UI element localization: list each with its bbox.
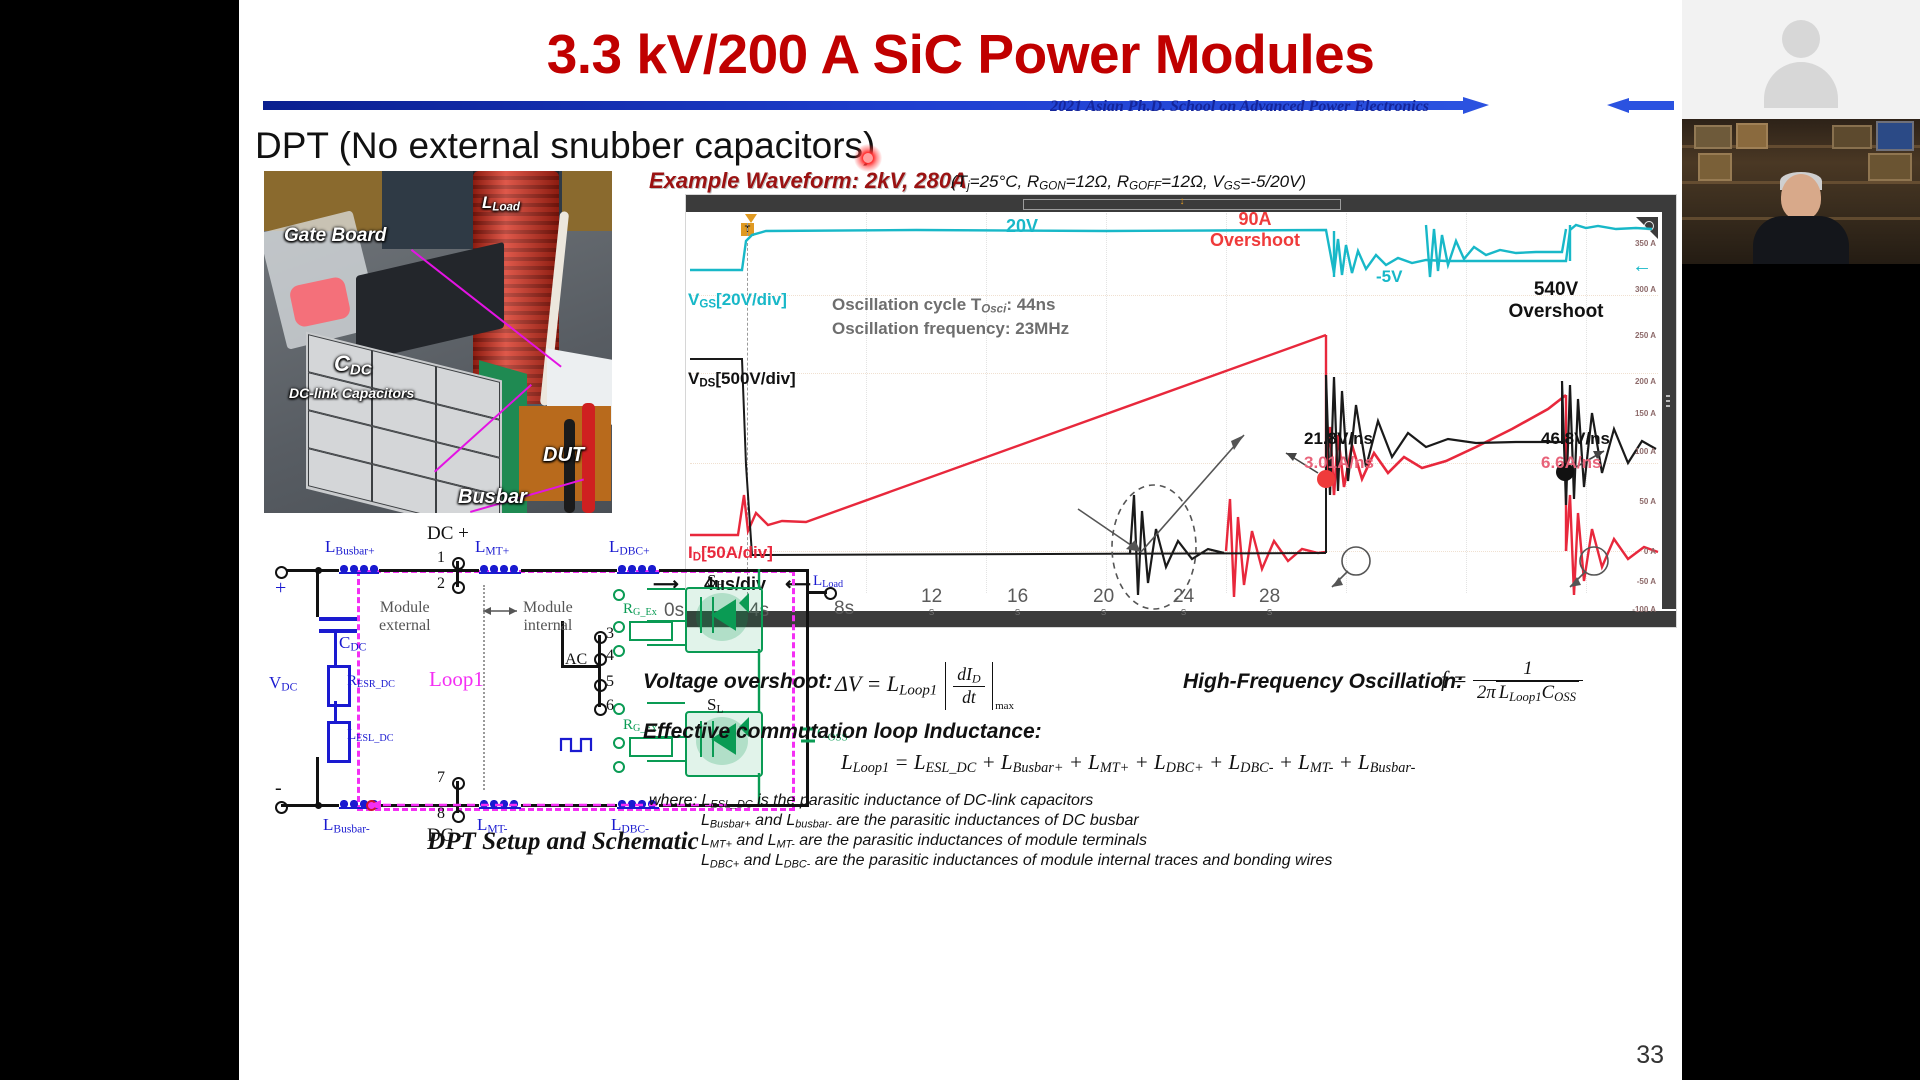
avatar <box>1759 18 1843 102</box>
scale-label-right: 350 A <box>1635 239 1656 248</box>
footnote-line: LMT+ and LMT- are the parasitic inductan… <box>701 832 1147 850</box>
participant-tile-avatar[interactable] <box>1682 0 1920 119</box>
label-pin-4: 4 <box>606 647 614 665</box>
x-tick-label: 20s <box>1093 586 1114 618</box>
dvdt-annotation-1: 21.8V/ns <box>1304 429 1373 449</box>
background-picture <box>1868 153 1912 181</box>
label-l-busbar-plus: LBusbar+ <box>325 537 375 558</box>
label-v-dc: VDC <box>269 673 297 694</box>
dvdt-annotation-2: 46.8V/ns <box>1541 429 1610 449</box>
label-r-esr-dc: RESR_DC <box>347 673 395 690</box>
header-subtitle: 2021 Asian Ph.D. School on Advanced Powe… <box>709 98 1429 116</box>
background-picture <box>1698 153 1732 181</box>
label-ac: AC <box>565 651 587 669</box>
vgs-axis-label: VGS[20V/div] <box>688 290 787 311</box>
participant-tile-video[interactable] <box>1682 119 1920 264</box>
hf-oscillation-label: High-Frequency Oscillation: <box>1183 670 1463 694</box>
didt-annotation-2: 6.6A/ns <box>1541 453 1601 473</box>
photo-label-dut: DUT <box>543 444 584 467</box>
section-title: DPT (No external snubber capacitors) <box>255 125 875 167</box>
scale-label-right: 50 A <box>1639 497 1656 506</box>
vgs-low-label: -5V <box>1376 267 1402 287</box>
label-pin-8: 8 <box>437 805 445 823</box>
x-tick-label: 24s <box>1173 586 1194 618</box>
left-letterbox-bar <box>0 0 239 1080</box>
label-l-dbc-plus: LDBC+ <box>609 537 650 558</box>
label-switch-low: SL <box>707 695 724 716</box>
label-terminal-minus: - <box>275 777 282 800</box>
label-pin-3: 3 <box>606 625 614 643</box>
background-picture <box>1736 123 1768 149</box>
label-pin-1: 1 <box>437 549 445 567</box>
label-pin-7: 7 <box>437 769 445 787</box>
vds-axis-label: VDS[500V/div] <box>688 369 796 390</box>
presenter-video <box>1753 174 1849 264</box>
current-overshoot-annotation: 90AOvershoot <box>1195 209 1315 251</box>
label-l-mt-plus: LMT+ <box>475 537 509 558</box>
footnote-line: LBusbar+ and Lbusbar- are the parasitic … <box>701 812 1139 830</box>
scope-caption-params: (Tj=25°C, RGON=12Ω, RGOFF=12Ω, VGS=-5/20… <box>951 172 1306 193</box>
oscillation-cycle-annotation: Oscillation cycle TOsci: 44ns <box>832 295 1055 316</box>
voltage-overshoot-label: Voltage overshoot: <box>643 670 832 694</box>
scale-label-right: -50 A <box>1637 577 1656 586</box>
label-pin-5: 5 <box>606 673 614 691</box>
page-title: 3.3 kV/200 A SiC Power Modules <box>239 22 1682 86</box>
oscillation-frequency-annotation: Oscillation frequency: 23MHz <box>832 319 1069 339</box>
background-picture <box>1694 125 1732 149</box>
dpt-setup-photo: LLoad Gate Board CDC DC-link Capacitors … <box>264 171 612 513</box>
footnote-line: where: LESL_DC is the parasitic inductan… <box>649 792 1093 810</box>
label-switch-high: SH <box>707 571 725 592</box>
cyan-channel-arrow-icon: ← <box>1632 255 1652 278</box>
label-c-dc: CDC <box>339 633 366 654</box>
label-rg-ex-high: RG_Ex <box>623 601 657 618</box>
label-l-esl-dc: LESL_DC <box>347 727 394 744</box>
x-tick-label: 12s <box>921 586 942 618</box>
photo-label-busbar: Busbar <box>458 486 527 509</box>
scale-label-right: 300 A <box>1635 285 1656 294</box>
voltage-overshoot-annotation: 540VOvershoot <box>1486 279 1626 323</box>
label-module-internal: Module internal <box>523 599 573 635</box>
scale-label-right: 200 A <box>1635 377 1656 386</box>
photo-label-cdc: CDC <box>334 351 372 378</box>
scope-caption: Example Waveform: 2kV, 280A <box>649 168 967 194</box>
loop-inductance-equation: LLoop1 = LESL_DC + LBusbar+ + LMT+ + LDB… <box>841 750 1415 777</box>
hf-oscillation-equation: f = 1 2π LLoop1COSS <box>1441 658 1583 705</box>
x-tick-label: 16s <box>1007 586 1028 618</box>
x-tick-label: 28s <box>1259 586 1280 618</box>
page-number: 33 <box>1636 1041 1664 1070</box>
scale-label-right: 0 A <box>1644 547 1656 556</box>
scale-label-right: 100 A <box>1635 447 1656 456</box>
scale-label-right: -100 A <box>1632 605 1656 614</box>
photo-label-gate-board: Gate Board <box>284 225 386 247</box>
label-l-load: LLoad <box>813 573 843 590</box>
scale-label-right: 250 A <box>1635 331 1656 340</box>
label-pin-6: 6 <box>606 697 614 715</box>
background-picture <box>1876 121 1914 151</box>
footnote-line: LDBC+ and LDBC- are the parasitic induct… <box>701 852 1332 870</box>
didt-annotation-1: 3.01A/ns <box>1304 453 1374 473</box>
label-terminal-plus: + <box>275 577 286 600</box>
slide-canvas: 3.3 kV/200 A SiC Power Modules 2021 Asia… <box>239 0 1682 1080</box>
photo-label-dc-link-capacitors: DC-link Capacitors <box>289 385 414 401</box>
background-picture <box>1832 125 1872 149</box>
label-dc-plus: DC + <box>427 523 469 545</box>
scale-label-right: 150 A <box>1635 409 1656 418</box>
header-rule-right <box>1629 101 1674 110</box>
loop-inductance-label: Effective commutation loop Inductance: <box>643 720 1042 744</box>
label-module-external: Module external <box>379 599 431 635</box>
photo-label-load-inductor: LLoad <box>482 193 520 214</box>
label-pin-2: 2 <box>437 575 445 593</box>
voltage-overshoot-equation: ΔV = LLoop1 dIDdt max <box>835 662 1014 712</box>
vgs-high-label: 20V <box>1006 216 1038 237</box>
